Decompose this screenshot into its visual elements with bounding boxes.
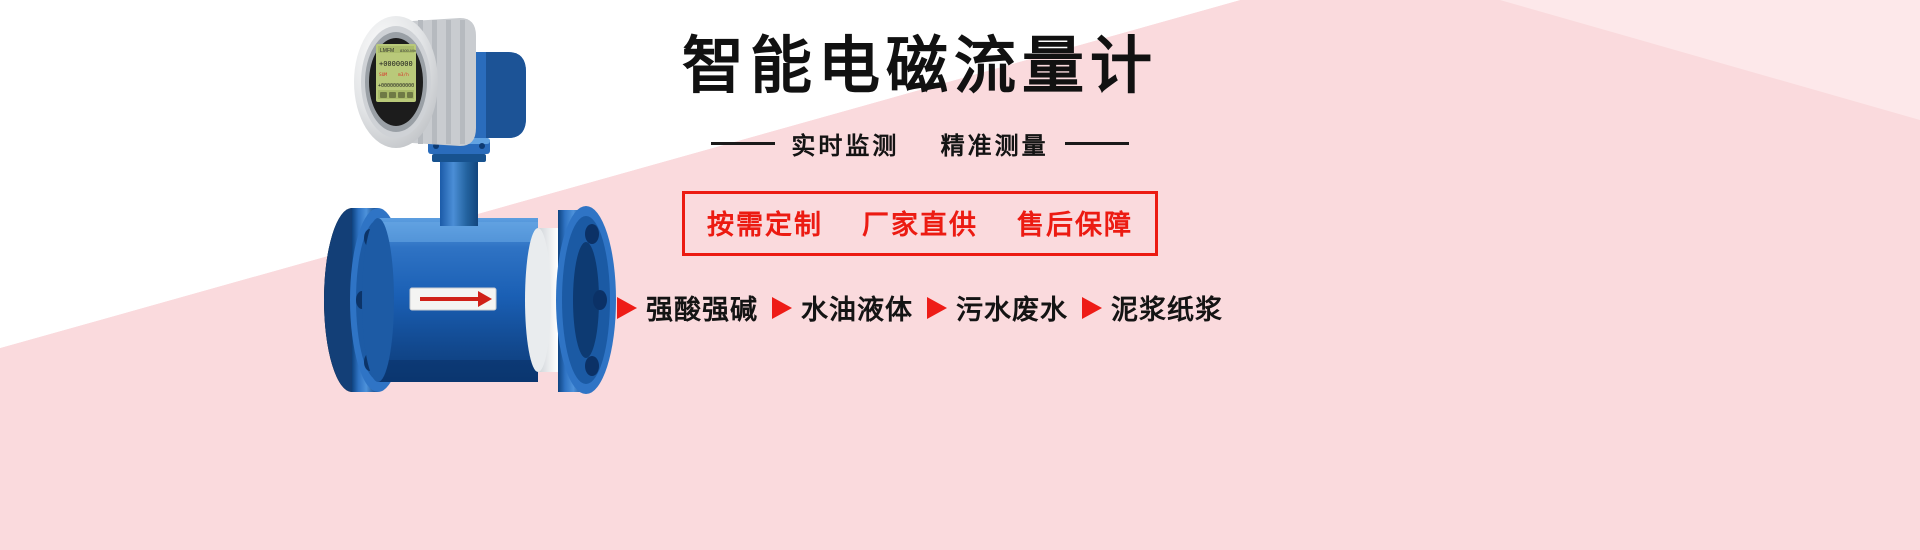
- page-title: 智能电磁流量计: [600, 36, 1240, 98]
- feature-label: 泥浆纸浆: [1111, 288, 1223, 327]
- subtitle-left: 实时监测: [791, 133, 899, 160]
- text-column: 智能电磁流量计 实时监测 精准测量 按需定制 厂家直供 售后保障 强酸强碱: [600, 36, 1240, 376]
- guarantee-badge-text: 按需定制 厂家直供 售后保障: [707, 210, 1133, 240]
- subtitle-text: 实时监测 精准测量: [791, 126, 1048, 161]
- promo-banner: LMFM 8300-Mb +0000000 SUM m3/h +00000000…: [0, 0, 1920, 550]
- feature-label: 水油液体: [801, 288, 913, 327]
- triangle-right-icon: [1082, 297, 1102, 319]
- list-item: 泥浆纸浆: [1082, 288, 1223, 327]
- badge-item-3: 售后保障: [1017, 210, 1133, 240]
- lcd-unit: m3/h: [398, 72, 409, 78]
- subtitle-right: 精准测量: [941, 133, 1049, 160]
- lcd-display: LMFM 8300-Mb +0000000 SUM m3/h +00000000…: [369, 38, 423, 126]
- list-item: 污水废水: [927, 288, 1068, 327]
- lcd-total: +00000000000: [378, 83, 414, 89]
- lcd-brand: LMFM: [380, 48, 394, 54]
- guarantee-badge: 按需定制 厂家直供 售后保障: [682, 191, 1158, 256]
- transmitter-head: LMFM 8300-Mb +0000000 SUM m3/h +00000000…: [354, 16, 476, 148]
- list-item: 强酸强碱: [617, 288, 758, 327]
- feature-label: 强酸强碱: [646, 288, 758, 327]
- rule-left: [711, 142, 775, 145]
- rule-right: [1065, 142, 1129, 145]
- meter-neck: [428, 138, 490, 226]
- triangle-right-icon: [617, 297, 637, 319]
- triangle-right-icon: [772, 297, 792, 319]
- list-item: 水油液体: [772, 288, 913, 327]
- lcd-model: 8300-Mb: [400, 48, 417, 53]
- feature-label: 污水废水: [956, 288, 1068, 327]
- feature-list: 强酸强碱 水油液体 污水废水 泥浆纸浆: [600, 288, 1240, 327]
- lcd-value: +0000000: [379, 60, 413, 68]
- triangle-right-icon: [927, 297, 947, 319]
- subtitle-row: 实时监测 精准测量: [600, 126, 1240, 161]
- badge-item-1: 按需定制: [707, 210, 823, 240]
- badge-item-2: 厂家直供: [862, 210, 978, 240]
- lcd-sum: SUM: [379, 72, 387, 78]
- flow-direction-arrow-icon: [410, 288, 496, 310]
